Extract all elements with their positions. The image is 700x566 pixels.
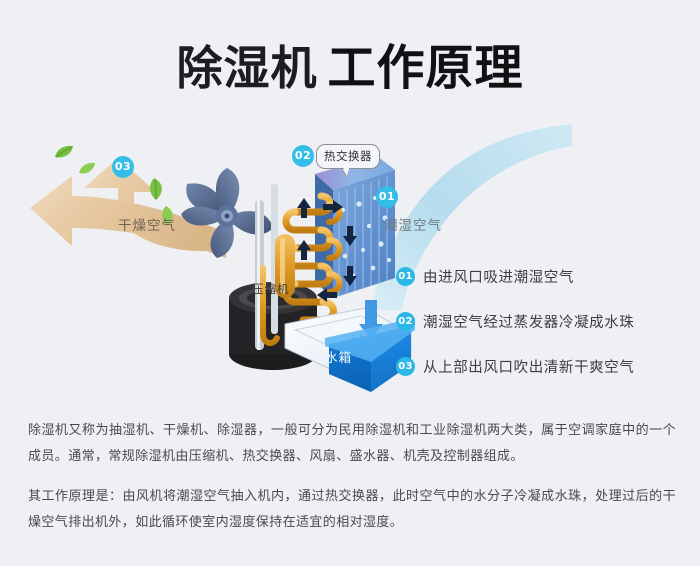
legend-item: 01 由进风口吸进潮湿空气 bbox=[396, 254, 686, 299]
legend-badge-02: 02 bbox=[396, 312, 415, 331]
legend-item: 02 潮湿空气经过蒸发器冷凝成水珠 bbox=[396, 299, 686, 344]
leaf-icon bbox=[54, 144, 74, 163]
heat-exchanger-callout: 热交换器 bbox=[316, 144, 380, 169]
page-title-part1: 除湿机 bbox=[176, 41, 317, 95]
legend-badge-01: 01 bbox=[396, 267, 415, 286]
legend-badge-03: 03 bbox=[396, 357, 415, 376]
dry-air-label: 干燥空气 bbox=[118, 214, 176, 234]
description-block: 除湿机又称为抽湿机、干燥机、除湿器，一般可分为民用除湿机和工业除湿机两大类，属于… bbox=[28, 418, 676, 550]
steps-legend: 01 由进风口吸进潮湿空气 02 潮湿空气经过蒸发器冷凝成水珠 03 从上部出风… bbox=[396, 254, 686, 389]
legend-text-01: 由进风口吸进潮湿空气 bbox=[423, 266, 574, 287]
compressor-label: 压缩机 bbox=[252, 281, 290, 297]
description-paragraph-2: 其工作原理是：由风机将潮湿空气抽入机内，通过热交换器，此时空气中的水分子冷凝成水… bbox=[28, 484, 676, 536]
humid-air-label: 潮湿空气 bbox=[384, 214, 442, 234]
step-badge-02: 02 bbox=[292, 145, 314, 167]
leaf-icon bbox=[78, 160, 96, 179]
legend-text-03: 从上部出风口吹出清新干爽空气 bbox=[423, 356, 634, 377]
water-tank-label: 水箱 bbox=[325, 347, 352, 366]
step-badge-03: 03 bbox=[112, 156, 134, 178]
page-title: 除湿机工作原理 bbox=[0, 28, 700, 98]
legend-text-02: 潮湿空气经过蒸发器冷凝成水珠 bbox=[423, 311, 634, 332]
page-title-part2: 工作原理 bbox=[327, 40, 523, 96]
description-paragraph-1: 除湿机又称为抽湿机、干燥机、除湿器，一般可分为民用除湿机和工业除湿机两大类，属于… bbox=[28, 418, 676, 470]
step-badge-01: 01 bbox=[376, 186, 398, 208]
leaf-icon bbox=[148, 178, 165, 204]
legend-item: 03 从上部出风口吹出清新干爽空气 bbox=[396, 344, 686, 389]
